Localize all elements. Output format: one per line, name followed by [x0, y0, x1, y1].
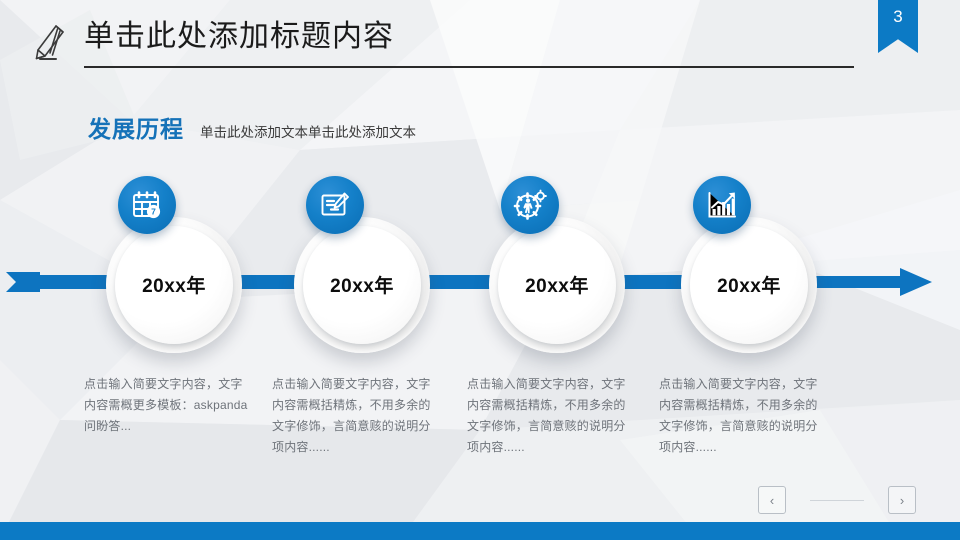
timeline-node-4[interactable]: 20xx年 点击输入简要文字内容，文字内容需概括精炼，不用多余的 — [667, 0, 867, 480]
nav-connector-line — [810, 500, 864, 501]
calendar-icon[interactable]: 7 — [118, 176, 176, 234]
node-year-label: 20xx年 — [106, 271, 242, 298]
timeline-node-3[interactable]: 20xx年 — [475, 0, 675, 480]
timeline-node-2[interactable]: 20xx年 点击输入简要文字内容，文字内容需概括精炼，不用多余的文字修饰，言简意… — [280, 0, 480, 480]
slide-navigation: ‹ › — [758, 486, 916, 514]
growth-chart-icon[interactable] — [693, 176, 751, 234]
bottom-accent-bar — [0, 522, 960, 540]
edit-document-icon[interactable] — [306, 176, 364, 234]
node-description: 点击输入简要文字内容，文字内容需概括精炼，不用多余的文字修饰，言简意赅的说明分项… — [659, 374, 829, 458]
slide-canvas: 单击此处添加标题内容 3 发展历程 单击此处添加文本单击此处添加文本 20xx年 — [0, 0, 960, 540]
timeline-node-1[interactable]: 20xx年 7 点击输入简要文字内容，文字内容需概更多模板：askpanda问盼… — [92, 0, 292, 480]
svg-text:7: 7 — [151, 206, 156, 216]
node-year-label: 20xx年 — [681, 271, 817, 298]
next-slide-button[interactable]: › — [888, 486, 916, 514]
page-number-text: 3 — [878, 7, 918, 27]
node-description: 点击输入简要文字内容，文字内容需概更多模板：askpanda问盼答... — [84, 374, 254, 437]
page-number-badge: 3 — [878, 0, 918, 53]
node-description: 点击输入简要文字内容，文字内容需概括精炼，不用多余的文字修饰，言简意赅的说明分项… — [272, 374, 442, 458]
node-year-label: 20xx年 — [294, 271, 430, 298]
pencil-icon — [26, 20, 72, 66]
node-year-label: 20xx年 — [489, 271, 625, 298]
worker-gear-icon[interactable] — [501, 176, 559, 234]
prev-slide-button[interactable]: ‹ — [758, 486, 786, 514]
node-description: 点击输入简要文字内容，文字内容需概括精炼，不用多余的文字修饰，言简意赅的说明分项… — [467, 374, 637, 458]
